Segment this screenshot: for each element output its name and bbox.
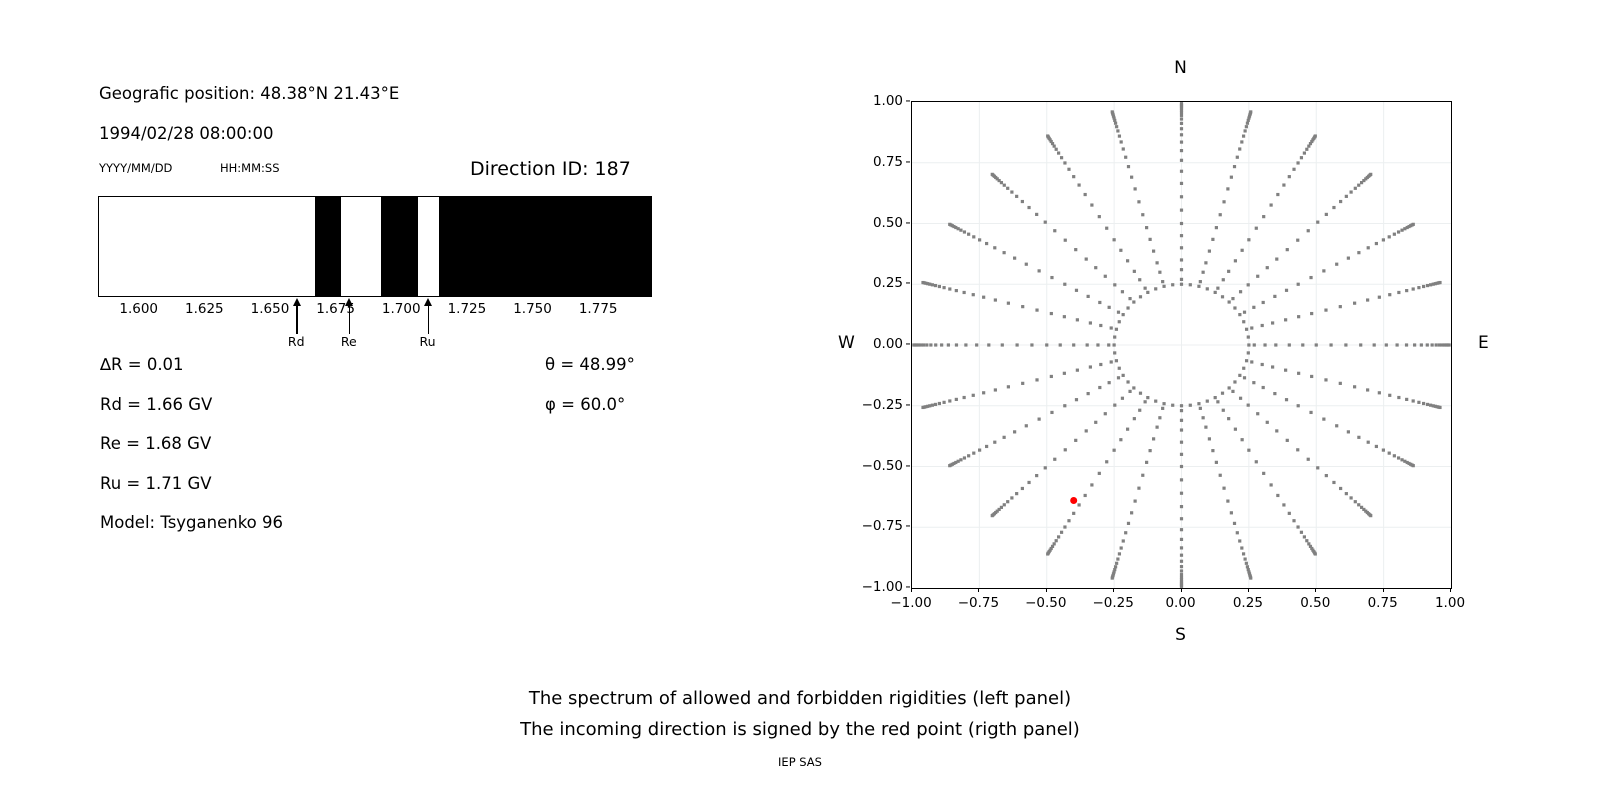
x-tick-label: 0.50 (1300, 595, 1330, 611)
x-tick-label: 1.00 (1435, 595, 1465, 611)
direction-grid-point (1116, 557, 1119, 560)
direction-grid-point (955, 343, 958, 346)
direction-grid-point (1180, 246, 1183, 249)
direction-grid-point (1021, 487, 1024, 490)
direction-grid-point (1180, 492, 1183, 495)
direction-grid-point (1256, 412, 1259, 415)
direction-grid-point (1046, 134, 1049, 137)
direction-grid-point (1127, 522, 1130, 525)
direction-grid-point (1388, 293, 1391, 296)
direction-grid-point (929, 343, 932, 346)
direction-scatter-points (912, 102, 1451, 588)
inner-ring-point (1214, 291, 1217, 294)
direction-grid-point (1145, 226, 1148, 229)
compass-label-north: N (1174, 58, 1187, 78)
direction-grid-point (1180, 127, 1183, 130)
direction-grid-point (1239, 397, 1242, 400)
left-panel: Geografic position: 48.38°N 21.43°E 1994… (0, 0, 800, 680)
direction-grid-point (948, 223, 951, 226)
direction-grid-point (1110, 326, 1113, 329)
direction-grid-point (1231, 297, 1234, 300)
direction-grid-point (1303, 151, 1306, 154)
direction-grid-point (1339, 200, 1342, 203)
inner-ring-point (1221, 392, 1224, 395)
direction-grid-point (1325, 474, 1328, 477)
x-tick-label: 0.75 (1368, 595, 1398, 611)
direction-grid-point (1180, 441, 1183, 444)
direction-grid-point (1074, 248, 1077, 251)
direction-grid-point (1284, 369, 1287, 372)
direction-grid-point (1137, 487, 1140, 490)
inner-ring-point (1238, 313, 1241, 316)
direction-grid-point (963, 291, 966, 294)
direction-grid-point (1388, 235, 1391, 238)
direction-grid-point (934, 343, 937, 346)
direction-grid-point (1276, 193, 1279, 196)
direction-grid-point (1074, 439, 1077, 442)
direction-grid-point (1412, 223, 1415, 226)
x-tick-mark (978, 588, 979, 592)
direction-grid-point (1149, 238, 1152, 241)
direction-grid-point (1274, 343, 1277, 346)
direction-grid-point (994, 298, 997, 301)
direction-grid-point (1144, 400, 1147, 403)
direction-grid-point (1121, 397, 1124, 400)
direction-grid-point (1050, 312, 1053, 315)
direction-grid-point (1099, 324, 1102, 327)
direction-grid-point (1098, 215, 1101, 218)
direction-grid-point (1405, 343, 1408, 346)
direction-grid-point (1426, 403, 1429, 406)
direction-grid-point (1242, 552, 1245, 555)
rigidity-spectrum-axis: 1.6001.6251.6501.6751.7001.7251.7501.775… (98, 297, 652, 343)
direction-grid-point (1072, 343, 1075, 346)
direction-grid-point (1110, 360, 1113, 363)
y-tick-mark (906, 465, 910, 466)
direction-grid-point (1113, 283, 1116, 286)
direction-grid-point (1021, 382, 1024, 385)
y-tick-mark (906, 343, 910, 344)
param-rd: Rd = 1.66 GV (100, 395, 212, 414)
direction-grid-point (1369, 514, 1372, 517)
y-tick-label: 0.50 (847, 215, 903, 231)
direction-grid-point (1354, 500, 1357, 503)
y-tick-label: 1.00 (847, 93, 903, 109)
forbidden-band (315, 197, 341, 296)
direction-grid-point (985, 242, 988, 245)
direction-grid-point (1357, 184, 1360, 187)
direction-grid-point (1121, 290, 1124, 293)
direction-grid-point (991, 514, 994, 517)
direction-grid-point (1180, 465, 1183, 468)
direction-grid-point (1357, 436, 1360, 439)
direction-grid-point (1085, 257, 1088, 260)
selected-direction-point (1070, 497, 1077, 504)
direction-grid-point (1263, 343, 1266, 346)
x-tick-label: 0.25 (1233, 595, 1263, 611)
direction-grid-point (1077, 183, 1080, 186)
direction-grid-point (1369, 173, 1372, 176)
direction-grid-point (1021, 305, 1024, 308)
direction-grid-point (964, 343, 967, 346)
direction-grid-point (1063, 315, 1066, 318)
direction-grid-point (1353, 385, 1356, 388)
inner-ring-point (1132, 386, 1135, 389)
direction-grid-point (993, 246, 996, 249)
inner-ring-point (1189, 283, 1192, 286)
direction-grid-point (978, 448, 981, 451)
direction-grid-point (1236, 531, 1239, 534)
direction-grid-point (1180, 182, 1183, 185)
direction-grid-point (1219, 213, 1222, 216)
direction-grid-point (1155, 261, 1158, 264)
direction-grid-point (1286, 439, 1289, 442)
direction-grid-point (1245, 125, 1248, 128)
direction-grid-point (1133, 417, 1136, 420)
direction-grid-point (1222, 200, 1225, 203)
direction-grid-point (1111, 110, 1114, 113)
direction-grid-point (1013, 257, 1016, 260)
param-re: Re = 1.68 GV (100, 434, 211, 453)
spectrum-tick-label: 1.600 (119, 301, 158, 317)
direction-grid-point (1114, 565, 1117, 568)
direction-grid-point (1180, 569, 1183, 572)
spectrum-tick-label: 1.650 (251, 301, 290, 317)
inner-ring-point (1118, 320, 1121, 323)
inner-ring-point (1228, 386, 1231, 389)
direction-grid-point (1199, 280, 1202, 283)
direction-grid-point (1215, 461, 1218, 464)
direction-grid-point (1307, 229, 1310, 232)
direction-grid-point (1007, 302, 1010, 305)
direction-grid-point (1119, 249, 1122, 252)
inner-ring-point (1206, 287, 1209, 290)
direction-grid-point (1180, 140, 1183, 143)
direction-grid-point (1382, 238, 1385, 241)
direction-grid-point (1180, 528, 1183, 531)
inner-ring-point (1228, 300, 1231, 303)
inner-ring-point (1122, 313, 1125, 316)
direction-grid-point (1158, 416, 1161, 419)
direction-grid-point (1087, 392, 1090, 395)
direction-grid-point (1035, 213, 1038, 216)
direction-grid-point (948, 464, 951, 467)
inner-ring-point (1189, 404, 1192, 407)
direction-grid-point (1422, 285, 1425, 288)
direction-grid-point (912, 343, 915, 346)
direction-grid-point (982, 391, 985, 394)
direction-grid-point (959, 229, 962, 232)
y-tick-mark (906, 404, 910, 405)
inner-ring-point (1113, 343, 1116, 346)
direction-grid-point (1114, 122, 1117, 125)
direction-grid-point (1438, 406, 1441, 409)
compass-label-east: E (1478, 333, 1489, 353)
x-tick-mark (1383, 588, 1384, 592)
direction-grid-point (1332, 206, 1335, 209)
caption-line-2: The incoming direction is signed by the … (0, 719, 1600, 740)
direction-grid-point (940, 343, 943, 346)
direction-grid-point (1249, 110, 1252, 113)
direction-grid-point (1239, 290, 1242, 293)
direction-grid-point (1216, 287, 1219, 290)
direction-grid-point (1285, 289, 1288, 292)
direction-grid-point (1296, 161, 1299, 164)
direction-grid-point (1324, 308, 1327, 311)
direction-grid-point (972, 235, 975, 238)
direction-grid-point (1084, 494, 1087, 497)
direction-grid-point (1270, 203, 1273, 206)
direction-grid-point (993, 441, 996, 444)
direction-grid-point (1292, 168, 1295, 171)
direction-grid-point (1180, 560, 1183, 563)
direction-grid-point (1242, 134, 1245, 137)
direction-grid-point (1199, 407, 1202, 410)
marker-stem (349, 305, 350, 334)
direction-grid-point (1128, 297, 1131, 300)
direction-grid-point (1296, 525, 1299, 528)
direction-grid-point (1204, 261, 1207, 264)
direction-grid-point (1222, 487, 1225, 490)
direction-grid-point (1180, 195, 1183, 198)
compass-label-south: S (1175, 625, 1186, 645)
polar-scatter-plot (911, 101, 1452, 589)
direction-grid-point (1013, 430, 1016, 433)
inner-ring-point (1242, 367, 1245, 370)
direction-grid-point (1105, 460, 1108, 463)
direction-grid-point (1261, 363, 1264, 366)
direction-grid-point (1007, 385, 1010, 388)
x-tick-mark (911, 588, 912, 592)
direction-grid-point (1134, 499, 1137, 502)
direction-grid-point (1431, 343, 1434, 346)
direction-grid-point (1300, 156, 1303, 159)
direction-grid-point (1285, 398, 1288, 401)
direction-grid-point (1397, 230, 1400, 233)
direction-grid-point (1282, 503, 1285, 506)
direction-grid-point (1050, 276, 1053, 279)
geographic-position-label: Geografic position: 48.38°N 21.43°E (99, 84, 399, 103)
direction-grid-point (948, 287, 951, 290)
direction-grid-point (1240, 546, 1243, 549)
direction-grid-point (1211, 238, 1214, 241)
inner-ring-point (1154, 287, 1157, 290)
inner-ring-point (1146, 291, 1149, 294)
direction-grid-point (967, 454, 970, 457)
inner-ring-point (1180, 283, 1183, 286)
y-tick-label: 0.75 (847, 154, 903, 170)
direction-grid-point (994, 388, 997, 391)
direction-grid-point (1234, 428, 1237, 431)
x-tick-mark (1181, 588, 1182, 592)
direction-grid-point (1366, 388, 1369, 391)
x-tick-mark (1046, 588, 1047, 592)
direction-grid-point (938, 402, 941, 405)
direction-grid-point (1113, 238, 1116, 241)
direction-grid-point (1246, 122, 1249, 125)
direction-grid-point (1378, 296, 1381, 299)
inner-ring-point (1214, 396, 1217, 399)
param-ru: Ru = 1.71 GV (100, 474, 212, 493)
direction-grid-point (1115, 562, 1118, 565)
direction-grid-point (1222, 409, 1225, 412)
direction-grid-point (1244, 129, 1247, 132)
direction-grid-point (1180, 538, 1183, 541)
inner-ring-point (1197, 285, 1200, 288)
direction-grid-point (1180, 102, 1183, 105)
direction-grid-point (1096, 343, 1099, 346)
direction-grid-point (1266, 266, 1269, 269)
direction-grid-point (1010, 190, 1013, 193)
direction-grid-point (1247, 283, 1250, 286)
direction-grid-point (1128, 390, 1131, 393)
direction-grid-point (1122, 147, 1125, 150)
direction-grid-point (1243, 311, 1246, 314)
direction-grid-point (1354, 187, 1357, 190)
direction-grid-point (1393, 454, 1396, 457)
direction-grid-point (1367, 246, 1370, 249)
direction-grid-point (1270, 483, 1273, 486)
direction-grid-point (1067, 519, 1070, 522)
direction-grid-point (1227, 417, 1230, 420)
y-tick-mark (906, 100, 910, 101)
direction-grid-point (1117, 311, 1120, 314)
direction-grid-point (1316, 221, 1319, 224)
direction-grid-point (1420, 343, 1423, 346)
direction-grid-point (1219, 474, 1222, 477)
direction-grid-point (1417, 286, 1420, 289)
direction-grid-point (1262, 301, 1265, 304)
direction-grid-point (1417, 401, 1420, 404)
direction-grid-point (963, 456, 966, 459)
direction-grid-point (1426, 343, 1429, 346)
direction-grid-point (1055, 539, 1058, 542)
y-tick-label: 0.25 (847, 275, 903, 291)
direction-grid-point (1385, 343, 1388, 346)
x-tick-mark (1450, 588, 1451, 592)
direction-grid-point (1226, 187, 1229, 190)
direction-grid-point (1307, 458, 1310, 461)
direction-grid-point (1108, 381, 1111, 384)
direction-grid-point (1397, 291, 1400, 294)
direction-grid-point (1297, 283, 1300, 286)
direction-grid-point (1230, 176, 1233, 179)
direction-grid-point (1027, 206, 1030, 209)
direction-grid-point (1072, 175, 1075, 178)
direction-grid-point (1252, 306, 1255, 309)
direction-grid-point (934, 284, 937, 287)
direction-grid-point (1255, 460, 1258, 463)
direction-grid-point (1180, 505, 1183, 508)
direction-grid-point (1202, 271, 1205, 274)
direction-grid-point (982, 296, 985, 299)
direction-grid-point (955, 398, 958, 401)
direction-grid-point (1400, 229, 1403, 232)
direction-grid-point (1180, 209, 1183, 212)
direction-grid-point (972, 394, 975, 397)
direction-polar-panel: −1.00−0.75−0.50−0.250.000.250.500.751.00… (800, 0, 1600, 680)
direction-grid-point (1115, 125, 1118, 128)
direction-grid-point (1388, 452, 1391, 455)
direction-grid-point (1412, 287, 1415, 290)
direction-grid-point (921, 281, 924, 284)
direction-grid-point (1180, 222, 1183, 225)
direction-grid-point (991, 173, 994, 176)
direction-grid-point (1122, 539, 1125, 542)
marker-label: Re (341, 334, 357, 349)
direction-grid-point (1180, 409, 1183, 412)
direction-grid-point (1180, 546, 1183, 549)
direction-grid-point (978, 238, 981, 241)
direction-grid-point (1050, 411, 1053, 414)
direction-grid-point (1044, 466, 1047, 469)
inner-ring-point (1245, 328, 1248, 331)
direction-grid-point (1297, 372, 1300, 375)
direction-grid-point (1180, 117, 1183, 120)
direction-grid-point (1098, 301, 1101, 304)
direction-grid-point (1075, 398, 1078, 401)
direction-grid-point (1322, 269, 1325, 272)
direction-grid-point (1412, 464, 1415, 467)
direction-grid-point (1180, 478, 1183, 481)
direction-grid-point (1055, 148, 1058, 151)
direction-grid-point (1180, 517, 1183, 520)
direction-grid-point (1353, 302, 1356, 305)
direction-grid-point (1030, 343, 1033, 346)
direction-grid-point (1297, 404, 1300, 407)
direction-grid-point (1233, 165, 1236, 168)
direction-grid-point (1161, 407, 1164, 410)
direction-grid-point (1090, 483, 1093, 486)
compass-label-west: W (838, 333, 855, 353)
direction-grid-point (1303, 535, 1306, 538)
direction-grid-point (1035, 474, 1038, 477)
direction-grid-point (1400, 458, 1403, 461)
direction-grid-point (1076, 318, 1079, 321)
inner-ring-point (1247, 335, 1250, 338)
direction-grid-point (1246, 565, 1249, 568)
direction-grid-point (1180, 573, 1183, 576)
direction-grid-point (1077, 503, 1080, 506)
direction-grid-point (1397, 396, 1400, 399)
inner-ring-point (1113, 335, 1116, 338)
inner-ring-point (1233, 380, 1236, 383)
direction-grid-point (1382, 448, 1385, 451)
direction-grid-point (1050, 375, 1053, 378)
direction-grid-point (1104, 412, 1107, 415)
direction-grid-point (1262, 386, 1265, 389)
direction-grid-point (1216, 400, 1219, 403)
direction-grid-point (1273, 392, 1276, 395)
y-tick-mark (906, 526, 910, 527)
direction-grid-point (1345, 195, 1348, 198)
param-phi: φ = 60.0° (545, 395, 625, 414)
y-tick-mark (906, 161, 910, 162)
direction-grid-point (1086, 343, 1089, 346)
direction-grid-point (1155, 426, 1158, 429)
direction-grid-point (1067, 168, 1070, 171)
direction-grid-point (1297, 315, 1300, 318)
direction-grid-point (1063, 404, 1066, 407)
direction-grid-point (1335, 424, 1338, 427)
direction-grid-point (1113, 404, 1116, 407)
direction-grid-point (1141, 474, 1144, 477)
direction-grid-point (1130, 176, 1133, 179)
direction-grid-point (1133, 270, 1136, 273)
direction-grid-point (1305, 539, 1308, 542)
direction-grid-point (1347, 257, 1350, 260)
marker-stem (428, 305, 429, 334)
